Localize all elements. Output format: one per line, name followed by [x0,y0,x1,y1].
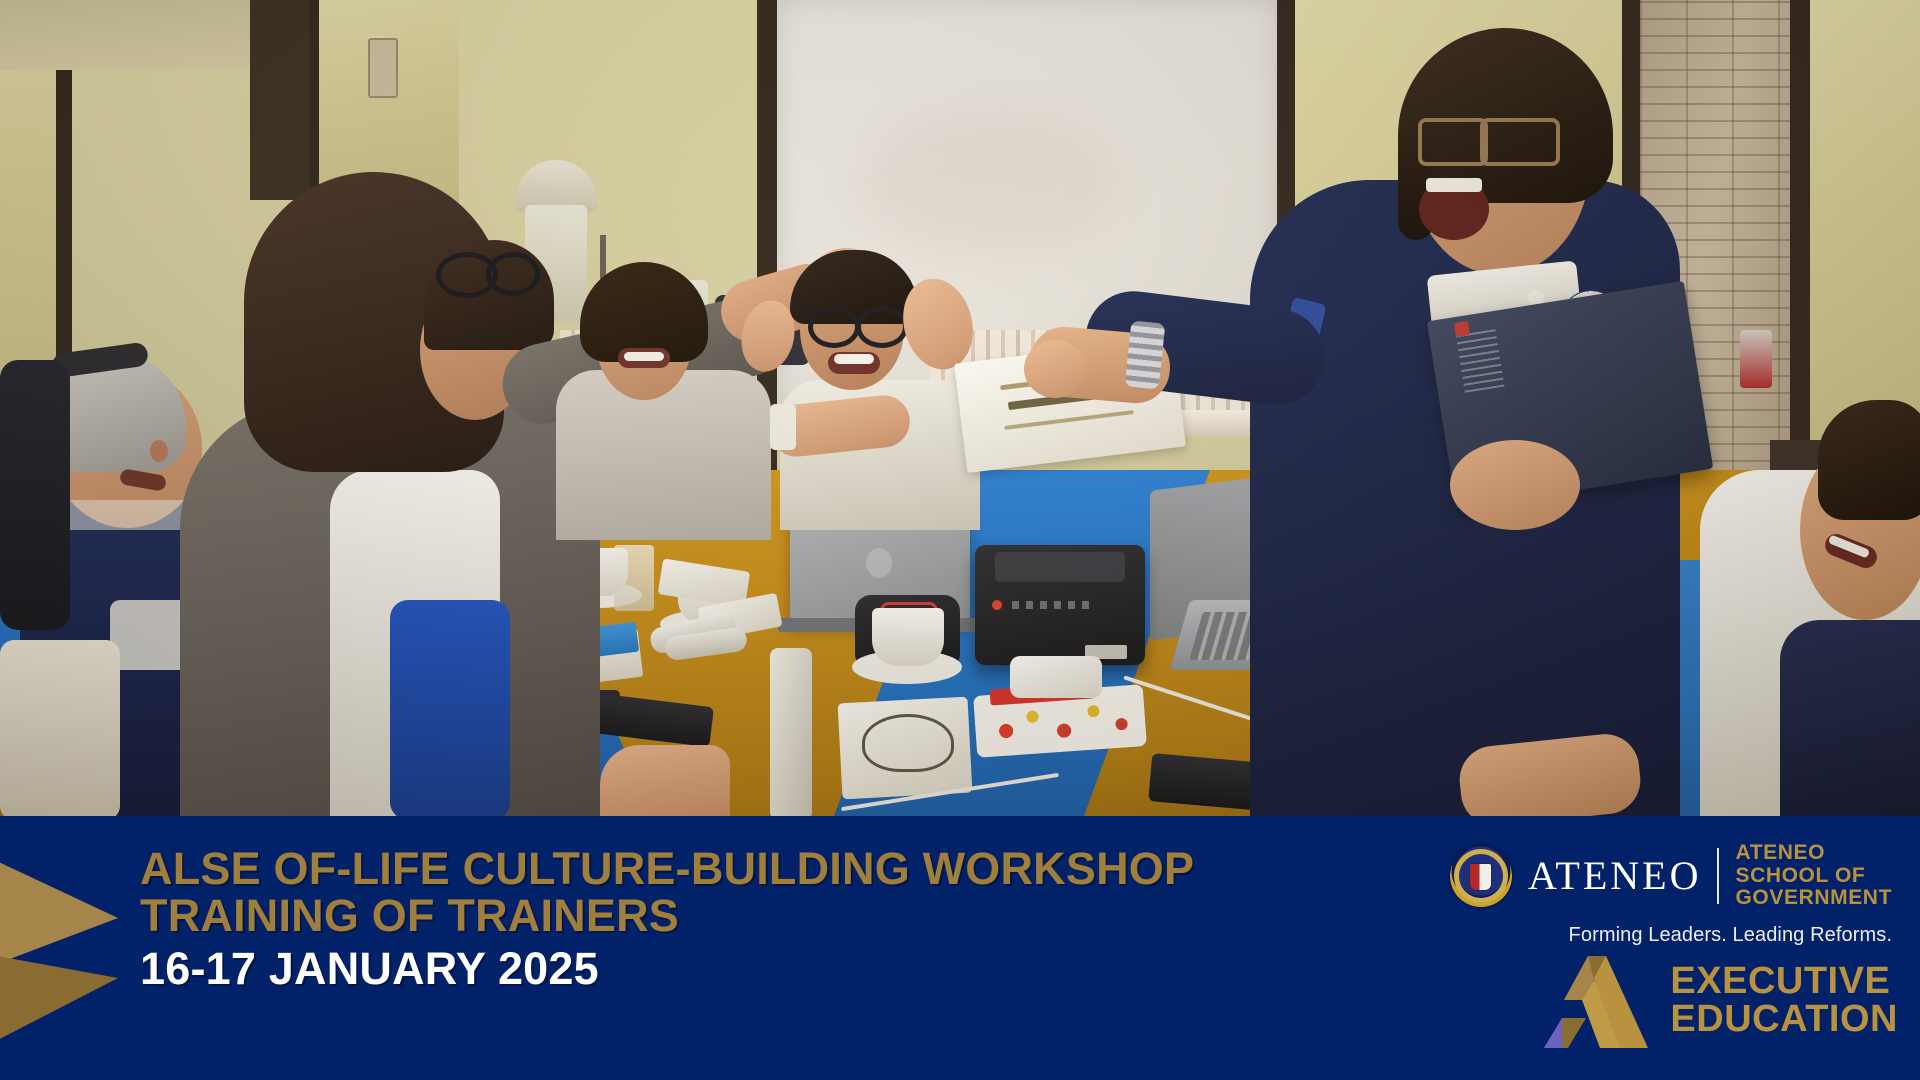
execed-line-1: EXECUTIVE [1670,962,1898,1000]
asg-line-3: GOVERNMENT [1735,887,1892,910]
poster-canvas: ALSE OF-LIFE CULTURE-BUILDING WORKSHOP T… [0,0,1920,1080]
gold-chevron-decoration [0,856,118,1046]
ateneo-wordmark: ATENEO [1528,856,1702,896]
event-photo [0,0,1920,820]
event-date: 16-17 JANUARY 2025 [140,946,1194,993]
ateneo-tagline: Forming Leaders. Leading Reforms. [1422,924,1892,947]
executive-education-wordmark: EXECUTIVE EDUCATION [1670,962,1898,1038]
logo-divider [1717,848,1719,904]
ateneo-seal-icon [1450,845,1512,907]
execed-line-2: EDUCATION [1670,1000,1898,1038]
executive-education-a-mark-icon [1532,952,1648,1048]
ateneo-logo: ATENEO ATENEO SCHOOL OF GOVERNMENT [1422,834,1892,918]
title-banner: ALSE OF-LIFE CULTURE-BUILDING WORKSHOP T… [0,816,1920,1080]
title-line-1: ALSE OF-LIFE CULTURE-BUILDING WORKSHOP [140,846,1194,893]
logo-lockup: ATENEO ATENEO SCHOOL OF GOVERNMENT Formi… [1422,834,1892,947]
seal-shield [1470,864,1491,890]
ateneo-school-of-government-name: ATENEO SCHOOL OF GOVERNMENT [1735,842,1892,910]
photo-vignette [0,0,1920,820]
asg-line-1: ATENEO [1735,842,1892,865]
title-line-2: TRAINING OF TRAINERS [140,893,1194,940]
asg-line-2: SCHOOL OF [1735,865,1892,888]
executive-education-logo: EXECUTIVE EDUCATION [1532,952,1898,1048]
event-title-block: ALSE OF-LIFE CULTURE-BUILDING WORKSHOP T… [140,846,1194,992]
